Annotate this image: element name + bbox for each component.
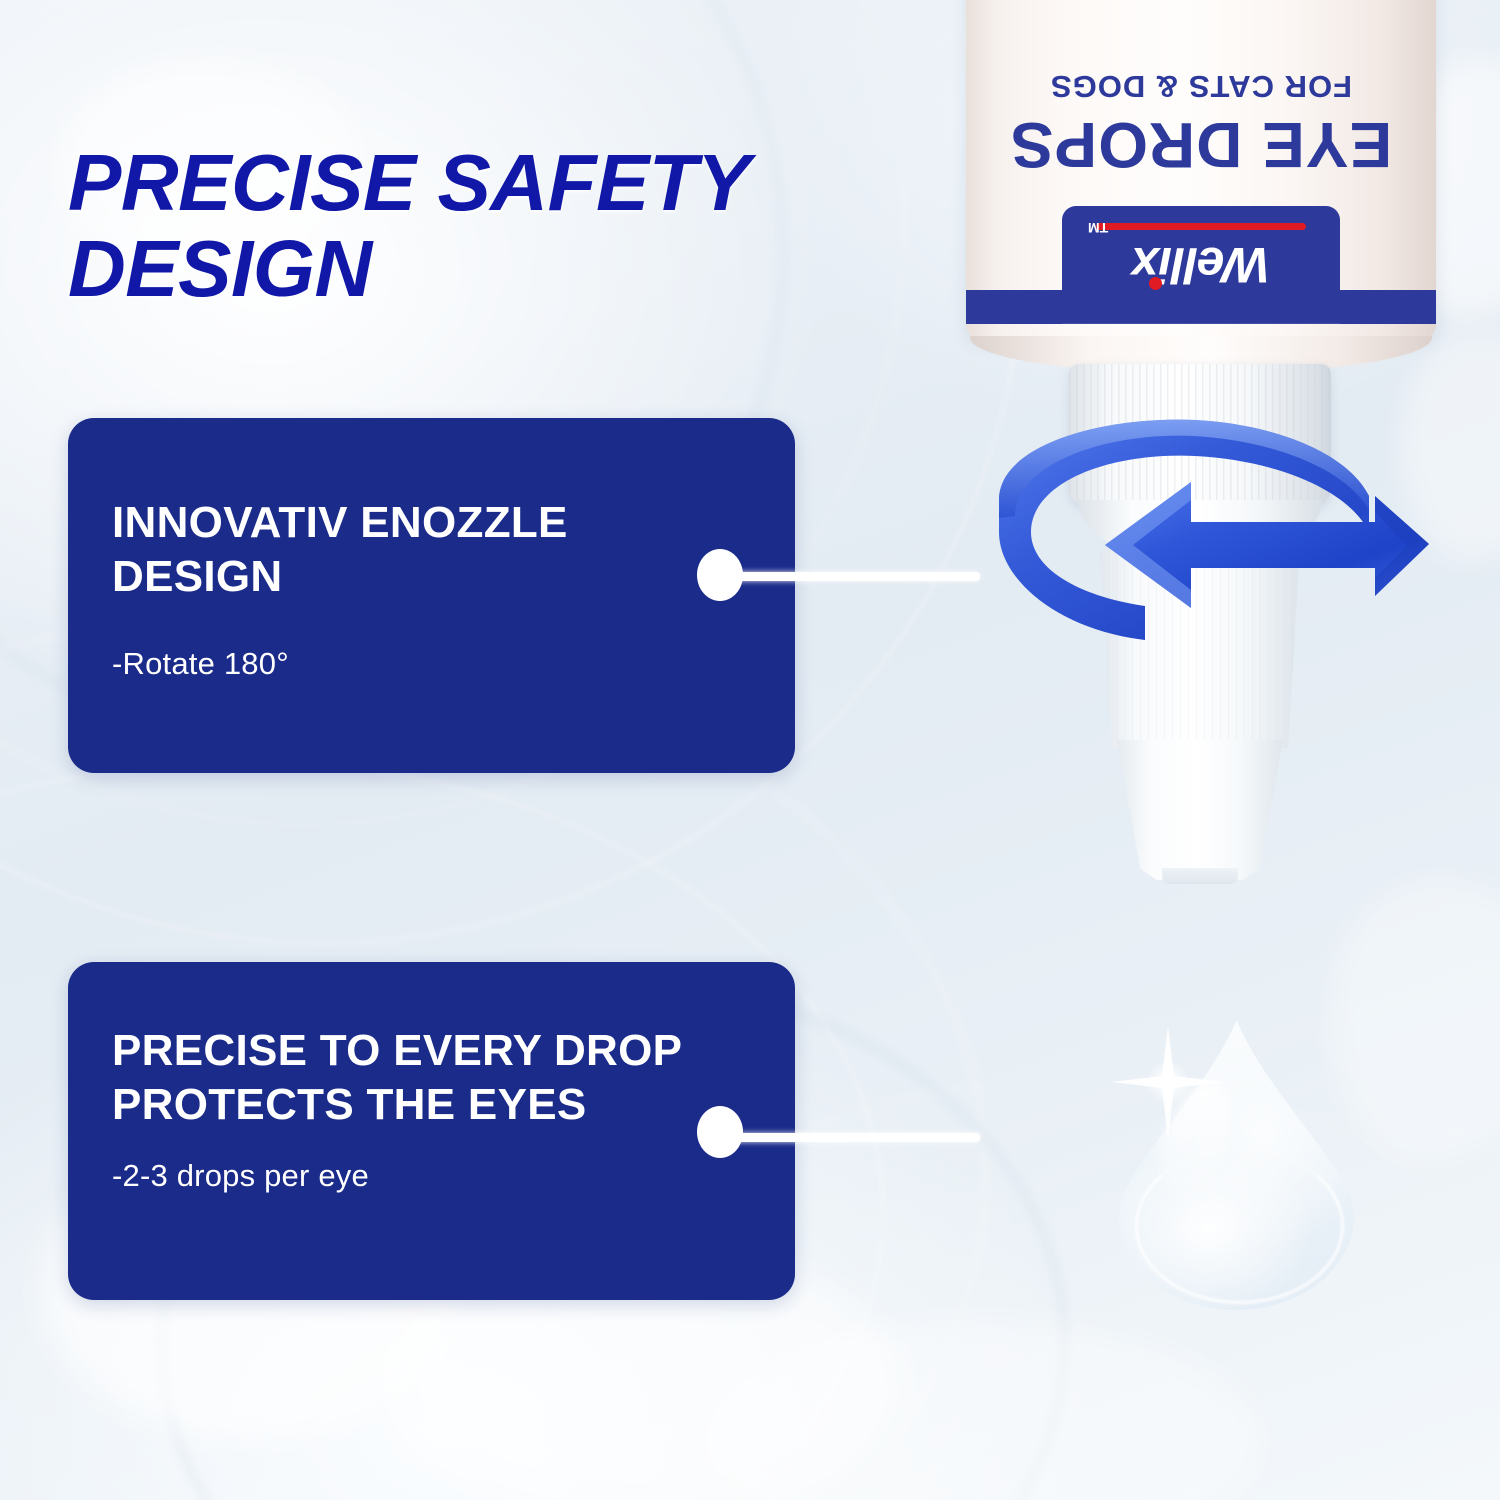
feature-card-subtitle: -Rotate 180° xyxy=(112,646,289,682)
feature-card-title: INNOVATIV ENOZZLE DESIGN xyxy=(112,496,732,603)
feature-card-precise-drop[interactable]: PRECISE TO EVERY DROP PROTECTS THE EYES … xyxy=(68,962,795,1300)
nozzle-tip xyxy=(1117,740,1283,880)
headline-line-2: DESIGN xyxy=(68,226,988,312)
feature-card-subtitle: -2-3 drops per eye xyxy=(112,1158,369,1194)
feature-card-nozzle-design[interactable]: INNOVATIV ENOZZLE DESIGN -Rotate 180° xyxy=(68,418,795,773)
product-name: EYE DROPS xyxy=(966,108,1436,182)
page-title: PRECISE SAFETY DESIGN xyxy=(68,140,988,313)
bottle-cap-icon xyxy=(1069,364,1331,506)
infographic-canvas: PRECISE SAFETY DESIGN INNOVATIV ENOZZLE … xyxy=(0,0,1500,1500)
brand-underline xyxy=(1096,223,1306,230)
nozzle-orifice xyxy=(1162,868,1238,884)
bottle-label-inverted: Wellix TM EYE DROPS FOR CATS & DOGS xyxy=(966,0,1436,340)
connector-line-nozzle xyxy=(735,572,980,581)
feature-card-title: PRECISE TO EVERY DROP PROTECTS THE EYES xyxy=(112,1024,762,1131)
product-bottle: Wellix TM EYE DROPS FOR CATS & DOGS xyxy=(966,0,1436,950)
brand-badge: Wellix TM xyxy=(1062,206,1340,324)
trademark-mark: TM xyxy=(1088,220,1108,236)
product-audience: FOR CATS & DOGS xyxy=(966,68,1436,104)
connector-line-droplet xyxy=(735,1133,980,1142)
connector-dot-icon xyxy=(697,1106,743,1158)
headline-line-1: PRECISE SAFETY xyxy=(68,138,750,227)
bottle-body: Wellix TM EYE DROPS FOR CATS & DOGS xyxy=(966,0,1436,340)
water-droplet-icon xyxy=(1119,1020,1354,1310)
brand-dot-icon xyxy=(1149,277,1162,290)
nozzle-icon xyxy=(1100,548,1300,748)
